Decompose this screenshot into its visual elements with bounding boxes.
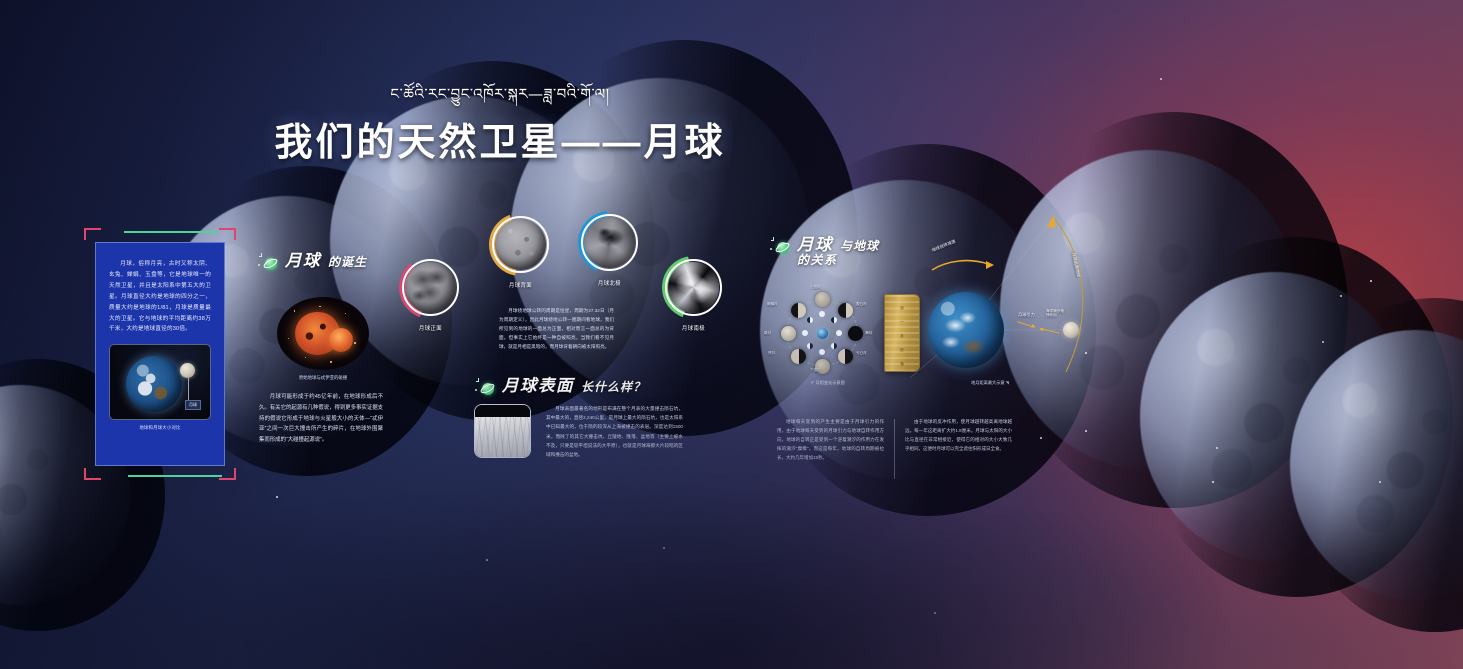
earth-spin-arrow [986,261,994,269]
section-title-main: 月球 [285,247,321,271]
phase-symbol [831,317,837,323]
intro-panel: 月球，俗称月亮，古时又称太阴、玄兔、婵娟、玉盘等，它是地球唯一的天然卫星，并且是… [84,228,236,480]
label-tidal-drag: 海洋潮汐拖拽作用 [1046,309,1066,318]
phase-earth-center [817,328,828,339]
section-title-main: 月球表面 [502,372,574,396]
poster-canvas: ང་ཚོའི་རང་བྱུང་འཁོར་སྐར—ཟླ་བའི་གོ་ལ། 我们的… [0,0,1463,669]
corner-bracket-bottom-left [84,468,101,480]
caption-marker-left: ◤ [811,380,814,385]
accent-line-bottom [128,475,222,477]
section-title-sub: 的诞生 [328,253,367,271]
debris-spark [305,357,307,359]
star [1340,295,1342,297]
moon-label-connector [188,378,189,400]
moon-south-pole-image [668,262,719,313]
phase-symbol [802,330,808,336]
moon-callout-label: 月球 [185,400,201,410]
star [1160,78,1162,80]
phase-moon-top-left [791,303,806,318]
theia-icon [329,328,354,353]
moon-view-north[interactable]: 月球北极 [578,211,641,274]
moon-view-label: 月球背面 [509,281,532,289]
star [663,547,665,549]
background-moon-8 [1290,330,1463,600]
debris-spark [319,306,320,307]
section-title-sub: 与地球 [840,237,879,255]
star [1216,447,1218,449]
orbit-arc-svg [900,200,1100,385]
star [1212,481,1214,483]
earth-moon-comparison-image: 月球 [109,344,211,420]
intro-paragraph: 月球，俗称月亮，古时又称太阴、玄兔、婵娟、玉盘等，它是地球唯一的天然卫星，并且是… [109,259,211,335]
phase-moon-bottom-right [838,349,853,364]
star [1322,341,1324,343]
section-heading-moon-surface: 月球表面 长什么样？ [480,372,646,396]
debris-spark [330,361,331,362]
column-divider [894,419,895,479]
moon-view-label: 月球北极 [598,279,621,287]
star [1040,437,1042,439]
moon-view-label: 月球正面 [419,324,442,332]
phase-label-bottom: 下弦月 [810,368,821,373]
moon-view-label: 月球南极 [682,324,705,332]
phase-symbol [807,317,813,323]
star [1370,280,1372,282]
birth-figure-caption: 原始地球与忒伊亚的碰撞 [263,375,383,381]
phase-moon-bottom-left [791,349,806,364]
moon-view-front[interactable]: 月球正面 [399,256,462,319]
section-title-sub: 长什么样？ [581,378,646,396]
debris-spark [345,313,346,314]
planet-leaf-icon [775,240,790,255]
moon-north-pole-image [584,217,635,268]
moon-view-south[interactable]: 月球南极 [662,256,725,319]
phase-moon-right [848,326,863,341]
phase-moon-top [815,292,830,307]
debris-spark [294,310,296,312]
section-title-line2: 的关系 [797,251,838,268]
debris-spark [354,342,356,344]
star [486,559,488,561]
section-heading-moon-birth: 月球 的诞生 [263,247,367,271]
surface-paragraph: 月球表面最著名的地形是布满在整个月表的大量撞击陨石坑，其中最大的，直径2,240… [546,404,683,459]
moon-view-back[interactable]: 月球背面 [489,213,552,276]
phase-moon-top-right [838,303,853,318]
intro-figure-caption: 地球和月球大小对比 [109,425,211,431]
tibetan-title: ང་ཚོའི་རང་བྱུང་འཁོར་སྐར—ཟླ་བའི་གོ་ལ། [240,84,760,105]
relation-paragraph-right: 由于地球的反冲作用，使月球越转越高离地球越远，每一年这距离扩大约1.8厘米。月球… [905,417,1012,453]
planet-leaf-icon [263,256,278,271]
phase-label-left: 新月 [764,331,771,336]
poster-header: ང་ཚོའི་རང་བྱུང་འཁོར་སྐར—ཟླ་བའི་གོ་ལ། 我们的… [240,84,760,166]
planet-leaf-icon [480,381,495,396]
background-moon-7 [1140,272,1410,562]
phase-label-bottom-left: 残月 [768,351,775,356]
debris-spark [288,338,289,339]
giant-impact-illustration [277,297,369,370]
phase-label-top: 上弦月 [810,285,821,290]
orbit-arrow-head [1047,215,1055,228]
moon-illustration [1063,322,1079,338]
phase-label-top-left: 娥眉月 [767,302,778,307]
phase-symbol [819,349,825,355]
phase-moon-left [781,326,796,341]
phase-symbol [831,343,837,349]
earth-spin-arc [932,261,988,270]
intro-panel-body: 月球，俗称月亮，古时又称太阴、玄兔、婵娟、玉盘等，它是地球唯一的天然卫星，并且是… [95,242,225,466]
moon-surface-photo [474,404,531,458]
star [934,612,936,614]
star [276,496,278,498]
moon-back-image [495,219,546,270]
phase-label-bottom-right: 亏凸月 [856,351,867,356]
moon-views-paragraph: 月球绕地球公转的周期是恒星，周期为27.32日（月为周期定义），因此月球绕地公转… [499,307,614,352]
moon-front-image [405,262,456,313]
phase-symbol [819,311,825,317]
label-moon-gravity: 月球引力 [1018,312,1035,318]
earth-globe-icon [126,356,182,412]
phase-caption-text: 月相变化示意图 [815,380,844,385]
corner-bracket-bottom-right [219,468,236,480]
corner-bracket-top-left [84,228,101,240]
phase-symbol [836,330,842,336]
star [1085,430,1087,432]
phase-label-right: 满月 [865,331,872,336]
lunar-regolith [475,417,530,457]
phase-diagram-caption: ◤ 月相变化示意图 [773,380,883,386]
corner-bracket-top-right [219,228,236,240]
moon-orbit-arc [1052,216,1083,372]
relation-paragraph-left: 地球每天受到的产生主要是由于月球引力的作用，由于地球每天受到的月球引力与地球自转… [777,417,884,462]
earth-moon-comparison-figure: 月球 地球和月球大小对比 [109,344,211,431]
phase-symbol [807,343,813,349]
earth-moon-recession-diagram: 地球自转减速 月球引力 海洋潮汐拖拽作用 月球远离地球 [900,200,1100,385]
page-title: 我们的天然卫星——月球 [240,111,760,166]
birth-paragraph: 月球可能形成于约45亿年前，在地球形成后不久。有关它的起源有几种假说，得到更多事… [259,392,383,446]
moon-globe-icon [180,363,195,378]
earth-illustration [928,292,1004,368]
star [1379,481,1381,483]
phase-label-top-right: 盈凸月 [856,302,867,307]
accent-line-top [124,231,218,233]
moon-phase-diagram: 上弦月 盈凸月 满月 亏凸月 下弦月 残月 新月 娥眉月 [772,292,876,374]
